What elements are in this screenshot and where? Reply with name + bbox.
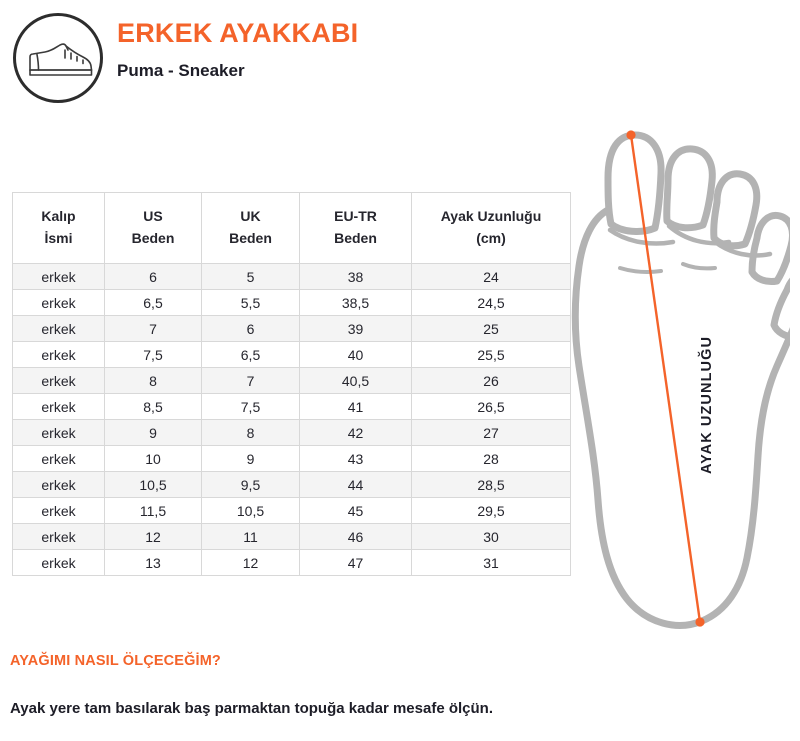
cell-us-beden: 7 bbox=[105, 316, 202, 342]
cell-ayak-uzunlugu: 27 bbox=[412, 420, 571, 446]
cell-eu-tr-beden: 47 bbox=[300, 550, 412, 576]
cell-eu-tr-beden: 38,5 bbox=[300, 290, 412, 316]
cell-uk-beden: 6,5 bbox=[202, 342, 300, 368]
cell-ayak-uzunlugu: 28,5 bbox=[412, 472, 571, 498]
cell-ayak-uzunlugu: 31 bbox=[412, 550, 571, 576]
page-subtitle: Puma - Sneaker bbox=[117, 61, 245, 81]
cell-ayak-uzunlugu: 24,5 bbox=[412, 290, 571, 316]
cell-us-beden: 11,5 bbox=[105, 498, 202, 524]
cell-ayak-uzunlugu: 26 bbox=[412, 368, 571, 394]
cell-uk-beden: 7 bbox=[202, 368, 300, 394]
cell-us-beden: 10,5 bbox=[105, 472, 202, 498]
cell-eu-tr-beden: 38 bbox=[300, 264, 412, 290]
measure-instructions-heading: AYAĞIMI NASIL ÖLÇECEĞİM? bbox=[10, 653, 221, 669]
cell-uk-beden: 5,5 bbox=[202, 290, 300, 316]
cell-us-beden: 8,5 bbox=[105, 394, 202, 420]
cell-kalip-ismi: erkek bbox=[13, 498, 105, 524]
cell-uk-beden: 9,5 bbox=[202, 472, 300, 498]
column-header-line1: US bbox=[143, 208, 162, 224]
table-row: erkek 13 12 47 31 bbox=[13, 550, 571, 576]
page-title: ERKEK AYAKKABI bbox=[117, 18, 358, 49]
cell-uk-beden: 8 bbox=[202, 420, 300, 446]
table-row: erkek 6,5 5,5 38,5 24,5 bbox=[13, 290, 571, 316]
cell-kalip-ismi: erkek bbox=[13, 394, 105, 420]
table-body: erkek 6 5 38 24 erkek 6,5 5,5 38,5 24,5 … bbox=[13, 264, 571, 576]
cell-ayak-uzunlugu: 30 bbox=[412, 524, 571, 550]
column-header-line1: Ayak Uzunluğu bbox=[441, 208, 542, 224]
cell-us-beden: 7,5 bbox=[105, 342, 202, 368]
table-row: erkek 10 9 43 28 bbox=[13, 446, 571, 472]
table-row: erkek 6 5 38 24 bbox=[13, 264, 571, 290]
cell-kalip-ismi: erkek bbox=[13, 342, 105, 368]
cell-us-beden: 12 bbox=[105, 524, 202, 550]
cell-uk-beden: 12 bbox=[202, 550, 300, 576]
cell-ayak-uzunlugu: 26,5 bbox=[412, 394, 571, 420]
column-header-uk-beden: UK Beden bbox=[202, 193, 300, 264]
cell-kalip-ismi: erkek bbox=[13, 264, 105, 290]
column-header-us-beden: US Beden bbox=[105, 193, 202, 264]
cell-eu-tr-beden: 42 bbox=[300, 420, 412, 446]
cell-eu-tr-beden: 46 bbox=[300, 524, 412, 550]
table-row: erkek 10,5 9,5 44 28,5 bbox=[13, 472, 571, 498]
table-row: erkek 7,5 6,5 40 25,5 bbox=[13, 342, 571, 368]
cell-uk-beden: 7,5 bbox=[202, 394, 300, 420]
cell-eu-tr-beden: 40,5 bbox=[300, 368, 412, 394]
page-header: ERKEK AYAKKABI Puma - Sneaker bbox=[0, 0, 800, 115]
cell-us-beden: 10 bbox=[105, 446, 202, 472]
table-header-row: Kalıp İsmi US Beden UK Beden EU-TR Beden… bbox=[13, 193, 571, 264]
cell-us-beden: 9 bbox=[105, 420, 202, 446]
cell-kalip-ismi: erkek bbox=[13, 368, 105, 394]
column-header-line2: (cm) bbox=[476, 230, 506, 246]
cell-kalip-ismi: erkek bbox=[13, 420, 105, 446]
table-row: erkek 9 8 42 27 bbox=[13, 420, 571, 446]
cell-ayak-uzunlugu: 28 bbox=[412, 446, 571, 472]
table-header: Kalıp İsmi US Beden UK Beden EU-TR Beden… bbox=[13, 193, 571, 264]
foot-sole-diagram bbox=[565, 118, 790, 638]
cell-kalip-ismi: erkek bbox=[13, 290, 105, 316]
column-header-eu-tr-beden: EU-TR Beden bbox=[300, 193, 412, 264]
cell-eu-tr-beden: 43 bbox=[300, 446, 412, 472]
column-header-line2: Beden bbox=[229, 230, 272, 246]
cell-us-beden: 13 bbox=[105, 550, 202, 576]
cell-kalip-ismi: erkek bbox=[13, 316, 105, 342]
cell-eu-tr-beden: 39 bbox=[300, 316, 412, 342]
table-row: erkek 8,5 7,5 41 26,5 bbox=[13, 394, 571, 420]
cell-kalip-ismi: erkek bbox=[13, 446, 105, 472]
cell-uk-beden: 11 bbox=[202, 524, 300, 550]
cell-us-beden: 6 bbox=[105, 264, 202, 290]
cell-us-beden: 6,5 bbox=[105, 290, 202, 316]
cell-ayak-uzunlugu: 25,5 bbox=[412, 342, 571, 368]
cell-ayak-uzunlugu: 24 bbox=[412, 264, 571, 290]
cell-eu-tr-beden: 40 bbox=[300, 342, 412, 368]
column-header-line1: EU-TR bbox=[334, 208, 377, 224]
table-row: erkek 11,5 10,5 45 29,5 bbox=[13, 498, 571, 524]
column-header-kalip-ismi: Kalıp İsmi bbox=[13, 193, 105, 264]
column-header-line2: Beden bbox=[132, 230, 175, 246]
sneaker-icon bbox=[13, 13, 103, 103]
foot-length-label: AYAK UZUNLUĞU bbox=[699, 336, 715, 474]
size-chart-table-container: Kalıp İsmi US Beden UK Beden EU-TR Beden… bbox=[12, 192, 570, 576]
table-row: erkek 8 7 40,5 26 bbox=[13, 368, 571, 394]
column-header-ayak-uzunlugu: Ayak Uzunluğu (cm) bbox=[412, 193, 571, 264]
measure-instructions-body: Ayak yere tam basılarak baş parmaktan to… bbox=[10, 700, 493, 717]
cell-us-beden: 8 bbox=[105, 368, 202, 394]
cell-uk-beden: 9 bbox=[202, 446, 300, 472]
column-header-line2: Beden bbox=[334, 230, 377, 246]
cell-kalip-ismi: erkek bbox=[13, 472, 105, 498]
column-header-line1: Kalıp bbox=[41, 208, 75, 224]
cell-ayak-uzunlugu: 29,5 bbox=[412, 498, 571, 524]
cell-eu-tr-beden: 41 bbox=[300, 394, 412, 420]
cell-uk-beden: 10,5 bbox=[202, 498, 300, 524]
column-header-line2: İsmi bbox=[44, 230, 72, 246]
cell-uk-beden: 6 bbox=[202, 316, 300, 342]
cell-eu-tr-beden: 44 bbox=[300, 472, 412, 498]
cell-kalip-ismi: erkek bbox=[13, 550, 105, 576]
table-row: erkek 12 11 46 30 bbox=[13, 524, 571, 550]
column-header-line1: UK bbox=[240, 208, 260, 224]
cell-uk-beden: 5 bbox=[202, 264, 300, 290]
foot-sole-icon bbox=[565, 118, 790, 638]
table-row: erkek 7 6 39 25 bbox=[13, 316, 571, 342]
cell-ayak-uzunlugu: 25 bbox=[412, 316, 571, 342]
size-chart-table: Kalıp İsmi US Beden UK Beden EU-TR Beden… bbox=[12, 192, 571, 576]
cell-eu-tr-beden: 45 bbox=[300, 498, 412, 524]
cell-kalip-ismi: erkek bbox=[13, 524, 105, 550]
